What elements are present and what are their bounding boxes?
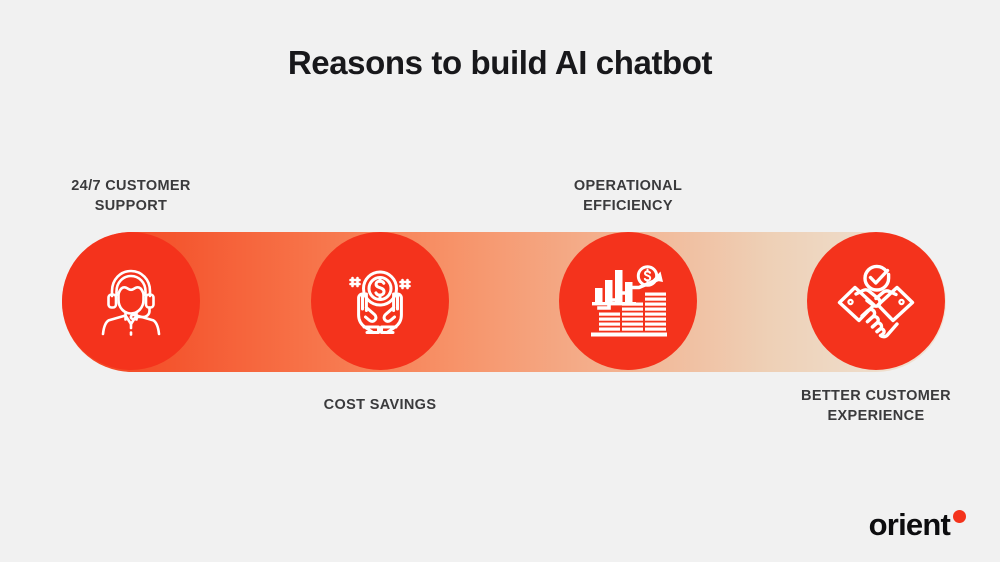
- hands-holding-money-coin-icon: [340, 262, 420, 340]
- icon-circle-support[interactable]: [62, 232, 200, 370]
- node-label-line2: EXPERIENCE: [776, 406, 976, 426]
- logo-wordmark: orient: [869, 509, 950, 540]
- icon-circle-operational-efficiency[interactable]: [559, 232, 697, 370]
- page-title: Reasons to build AI chatbot: [0, 44, 1000, 82]
- node-label-line2: EFFICIENCY: [528, 196, 728, 216]
- icon-circle-cost-savings[interactable]: [311, 232, 449, 370]
- logo-dot-icon: [953, 510, 966, 523]
- node-label-line2: SUPPORT: [31, 196, 231, 216]
- growth-bar-chart-coins-icon: [587, 262, 669, 340]
- node-label-line1: OPERATIONAL: [528, 176, 728, 196]
- node-label-support: 24/7 CUSTOMER SUPPORT: [31, 176, 231, 216]
- node-label-line1: COST SAVINGS: [280, 395, 480, 415]
- node-label-cost-savings: COST SAVINGS: [280, 395, 480, 415]
- slide-canvas: Reasons to build AI chatbot: [0, 0, 1000, 562]
- node-label-line1: BETTER CUSTOMER: [776, 386, 976, 406]
- node-label-operational-efficiency: OPERATIONAL EFFICIENCY: [528, 176, 728, 216]
- orient-logo[interactable]: orient: [869, 509, 966, 540]
- node-label-better-experience: BETTER CUSTOMER EXPERIENCE: [776, 386, 976, 426]
- icon-circle-better-experience[interactable]: [807, 232, 945, 370]
- support-agent-headset-icon: [92, 262, 170, 340]
- node-label-line1: 24/7 CUSTOMER: [31, 176, 231, 196]
- handshake-check-icon: [834, 261, 918, 341]
